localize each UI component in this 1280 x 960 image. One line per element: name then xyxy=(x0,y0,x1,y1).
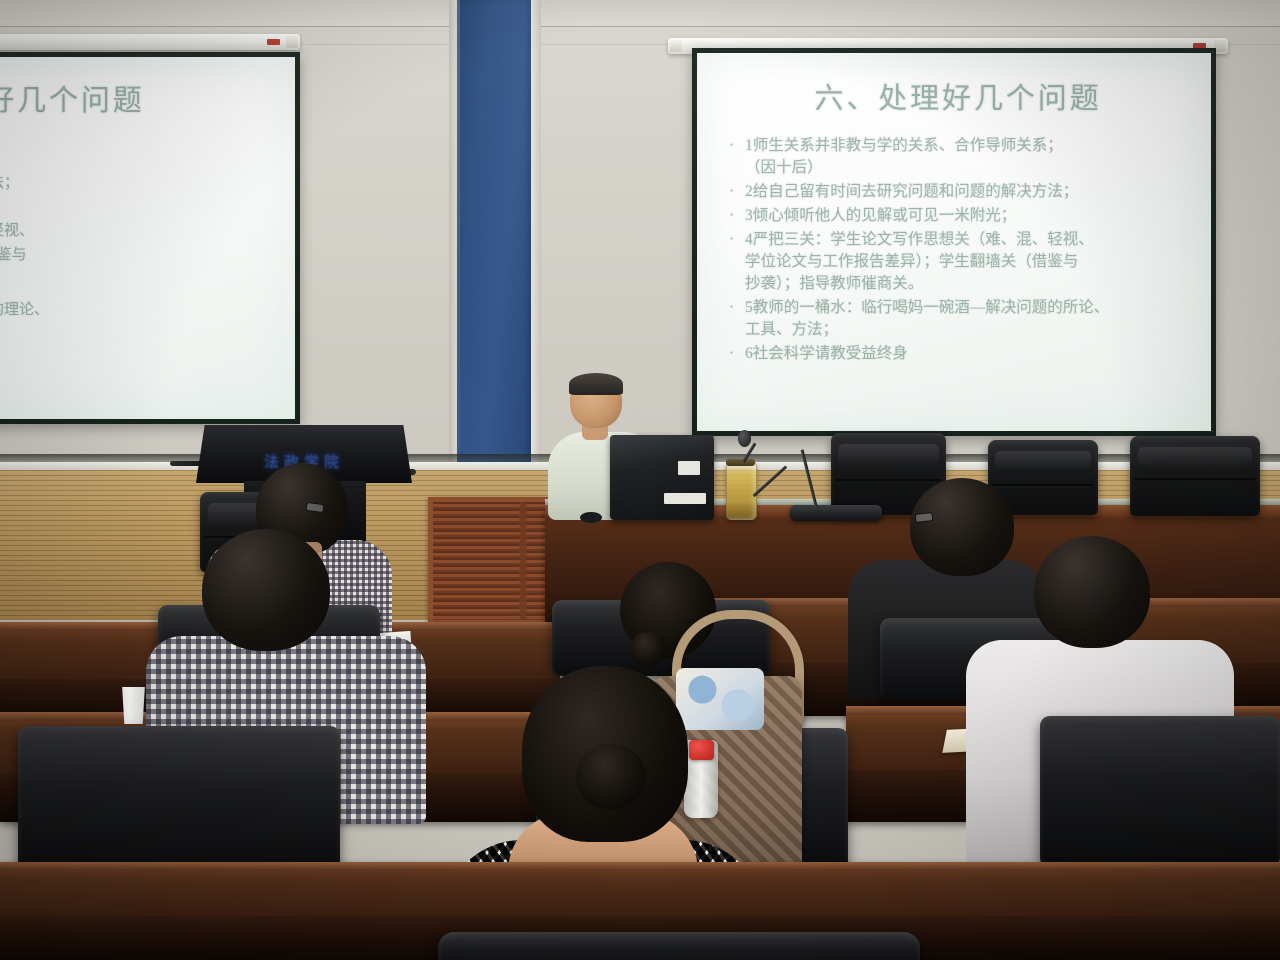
microphone-head xyxy=(738,430,751,447)
slide-bullet-6: · 6社会科学请教受益终身 xyxy=(745,343,1193,365)
wooden-louver-vent xyxy=(428,497,558,625)
attendee-right-head xyxy=(910,478,1014,576)
left-slide-bullet: 或可见一米附光； xyxy=(0,197,281,219)
ceiling-seam xyxy=(0,26,1280,27)
bottle-cap xyxy=(689,740,714,760)
projection-screen-right: 六、处理好几个问题 · 1师生关系并非教与学的关系、合作导师关系； （因十后） … xyxy=(692,48,1216,436)
paper-cup xyxy=(120,687,147,724)
computer-mouse[interactable] xyxy=(580,512,602,523)
blue-wall-column xyxy=(457,0,531,472)
microphone-base[interactable] xyxy=(790,505,882,521)
hair-bun xyxy=(630,632,666,666)
presenter-hair xyxy=(569,373,623,395)
slide-bullet-4-sub: 学位论文与工作报告差异）；学生翻墙关（借鉴与抄袭）；指导教师催商关。 xyxy=(745,251,1193,295)
left-slide-bullet: 商关。 xyxy=(0,268,281,290)
left-slide-bullets: 的关系、合作导师关系； 究问题和问题的解决方法； 或可见一米附光； 写作思想关（… xyxy=(0,137,281,354)
left-slide-bullet: 的关系、合作导师关系； xyxy=(0,137,281,159)
left-slide-bullet: 益终身 xyxy=(0,332,281,354)
chair-front-left xyxy=(18,726,340,878)
attendee-front-right-head xyxy=(1034,536,1150,648)
chair-foreground xyxy=(438,932,920,960)
projection-screen-left: 理好几个问题 的关系、合作导师关系； 究问题和问题的解决方法； 或可见一米附光；… xyxy=(0,52,300,424)
hair-bun xyxy=(576,744,646,810)
attendee-front-left-head xyxy=(202,529,330,651)
projection-screen-case-left xyxy=(0,34,300,50)
lecture-hall-scene: 理好几个问题 的关系、合作导师关系； 究问题和问题的解决方法； 或可见一米附光；… xyxy=(0,0,1280,960)
column-edge-right xyxy=(531,0,541,472)
slide-bullet-1: · 1师生关系并非教与学的关系、合作导师关系； （因十后） xyxy=(745,135,1193,179)
left-slide-bullet: 写作思想关（难、混、轻视、 xyxy=(0,221,281,243)
slide-bullet-2: · 2给自己留有时间去研究问题和问题的解决方法； xyxy=(745,181,1193,203)
chair-front-right xyxy=(1040,716,1280,868)
slide-bullet-4: · 4严把三关：学生论文写作思想关（难、混、轻视、 学位论文与工作报告差异）；学… xyxy=(745,229,1193,295)
glass-tea-cup xyxy=(726,463,757,520)
slide-title: 六、处理好几个问题 xyxy=(723,75,1193,117)
slide-bullet-5: · 5教师的一桶水：临行喝妈一碗酒—解决问题的所论、 工具、方法； xyxy=(745,297,1193,341)
left-slide-bullet: 究问题和问题的解决方法； xyxy=(0,173,281,195)
laptop-screen[interactable] xyxy=(610,435,714,520)
slide-bullet-3: · 3倾心倾听他人的见解或可见一米附光； xyxy=(745,205,1193,227)
ceiling-band xyxy=(0,0,1280,27)
chair-front-row xyxy=(1130,436,1260,516)
slide-bullet-list: · 1师生关系并非教与学的关系、合作导师关系； （因十后） · 2给自己留有时间… xyxy=(723,135,1193,365)
glasses-icon xyxy=(915,512,934,523)
bag-scarf xyxy=(676,668,764,730)
left-slide-bullet: 喝妈一碗酒—解决问题的理论、 xyxy=(0,300,281,322)
left-slide-title: 理好几个问题 xyxy=(0,77,281,119)
left-slide-bullet: 差异）；学生翻墙关（借鉴与 xyxy=(0,245,281,267)
